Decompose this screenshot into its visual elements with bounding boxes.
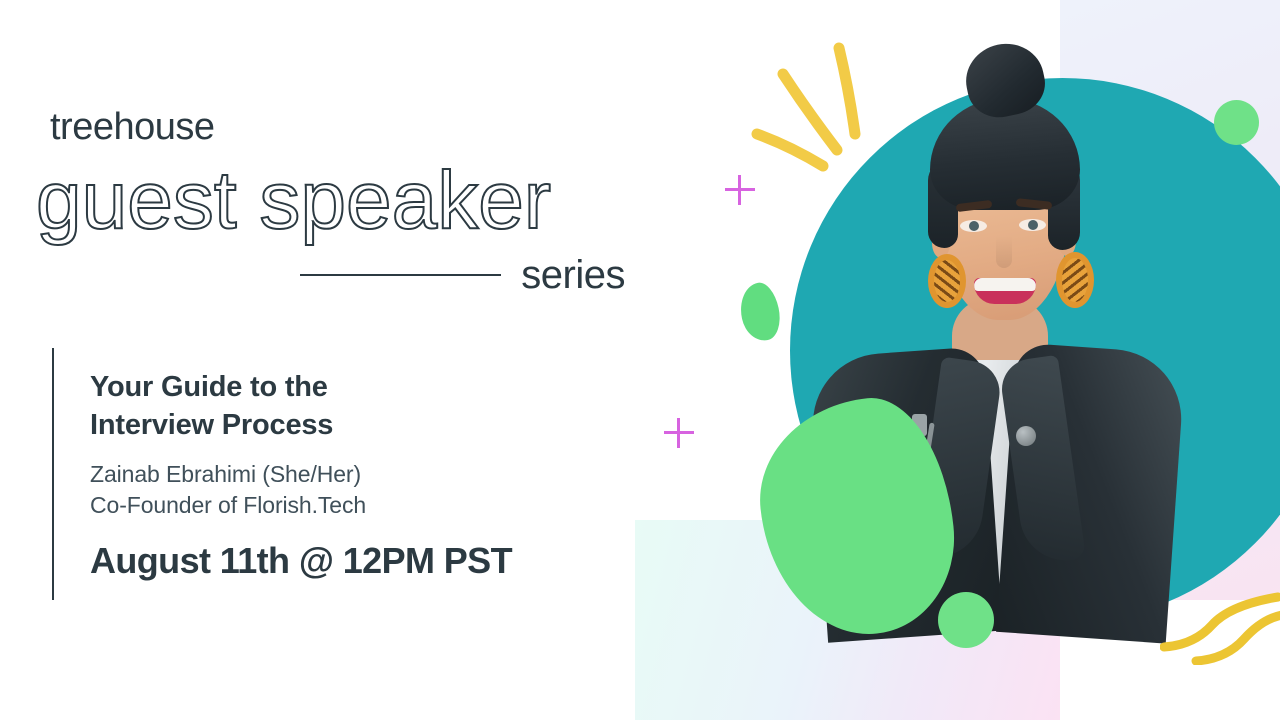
series-row: series: [300, 255, 625, 295]
talk-title: Your Guide to the Interview Process: [90, 368, 630, 445]
yellow-sparkle-burst-icon: [745, 38, 895, 188]
portrait-jacket-stud: [1016, 426, 1036, 446]
portrait-earring-right: [1056, 252, 1094, 308]
portrait-teeth: [974, 278, 1036, 291]
speaker-role: Co-Founder of Florish.Tech: [90, 490, 630, 521]
green-blob-small-shape: [735, 280, 784, 345]
series-divider-rule: [300, 274, 501, 276]
magenta-plus-upper-icon: [725, 175, 755, 205]
portrait-mouth: [974, 278, 1036, 304]
brand-wordmark: treehouse: [50, 108, 215, 146]
left-accent-bar: [52, 348, 54, 600]
talk-title-line-1: Your Guide to the: [90, 368, 630, 406]
portrait-pupil-right: [1028, 220, 1038, 230]
event-details: Your Guide to the Interview Process Zain…: [90, 368, 630, 579]
event-datetime: August 11th @ 12PM PST: [90, 543, 630, 579]
talk-title-line-2: Interview Process: [90, 406, 630, 444]
headline-guest-speaker: guest speaker: [36, 160, 551, 242]
portrait-earring-left: [928, 254, 966, 308]
green-dot-bottom-icon: [938, 592, 994, 648]
yellow-squiggle-pair-icon: [1160, 585, 1280, 665]
magenta-plus-lower-icon: [664, 418, 694, 448]
portrait-nose: [996, 236, 1012, 268]
speaker-name: Zainab Ebrahimi (She/Her): [90, 459, 630, 490]
series-label: series: [521, 255, 625, 295]
portrait-pupil-left: [969, 221, 979, 231]
slide-canvas: treehouse guest speaker series Your Guid…: [0, 0, 1280, 720]
